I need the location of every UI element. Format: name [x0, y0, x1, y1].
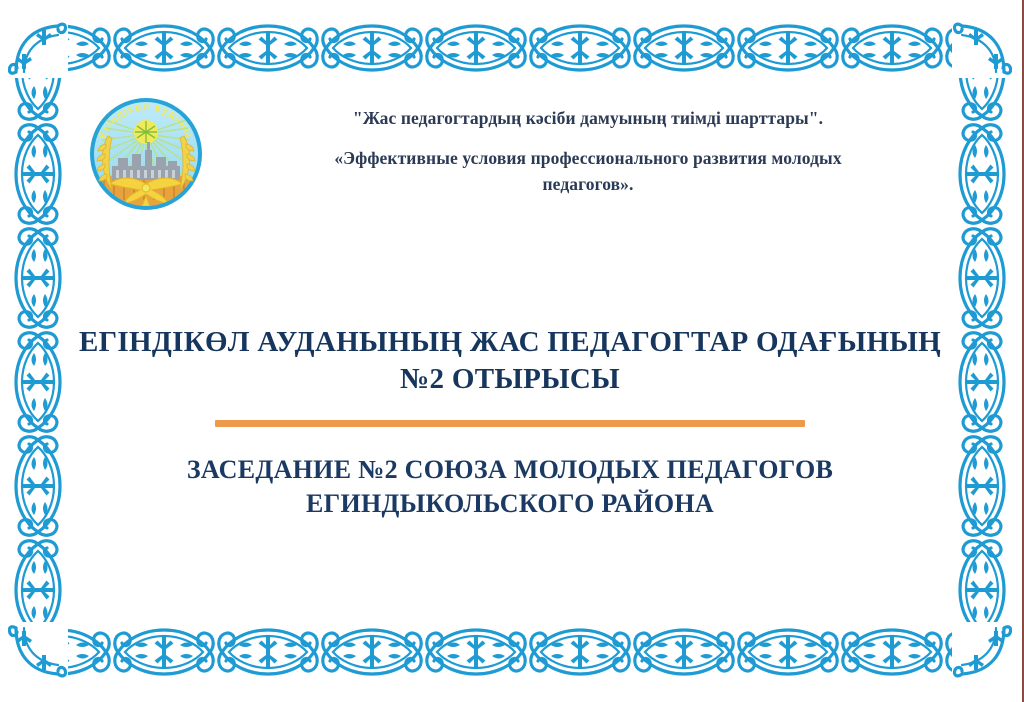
- page-title-kazakh: ЕГІНДІКӨЛ АУДАНЫНЫҢ ЖАС ПЕДАГОГТАР ОДАҒЫ…: [68, 324, 952, 398]
- frame-band-right: [952, 18, 1012, 682]
- slide-content: Егіндікөл ауданы "Жас педагогтардың кәсі…: [68, 78, 952, 622]
- page-title-russian: ЗАСЕДАНИЕ №2 СОЮЗА МОЛОДЫХ ПЕДАГОГОВ ЕГИ…: [68, 453, 952, 521]
- title-block: ЕГІНДІКӨЛ АУДАНЫНЫҢ ЖАС ПЕДАГОГТАР ОДАҒЫ…: [68, 324, 952, 521]
- frame-corner-top-right: [952, 18, 1012, 78]
- frame-corner-top-left: [8, 18, 68, 78]
- frame-corner-bottom-right: [952, 622, 1012, 682]
- frame-corner-bottom-left: [8, 622, 68, 682]
- frame-band-bottom: [8, 622, 1012, 682]
- topic-russian: «Эффективные условия профессионального р…: [293, 146, 883, 198]
- topic-kazakh: "Жас педагогтардың кәсіби дамуының тиімд…: [293, 106, 883, 132]
- frame-band-left: [8, 18, 68, 682]
- topic-block: "Жас педагогтардың кәсіби дамуының тиімд…: [293, 106, 883, 198]
- presentation-slide: Егіндікөл ауданы "Жас педагогтардың кәсі…: [0, 0, 1024, 702]
- frame-band-top: [8, 18, 1012, 78]
- district-emblem-icon: Егіндікөл ауданы: [82, 88, 210, 228]
- title-divider: [215, 420, 805, 427]
